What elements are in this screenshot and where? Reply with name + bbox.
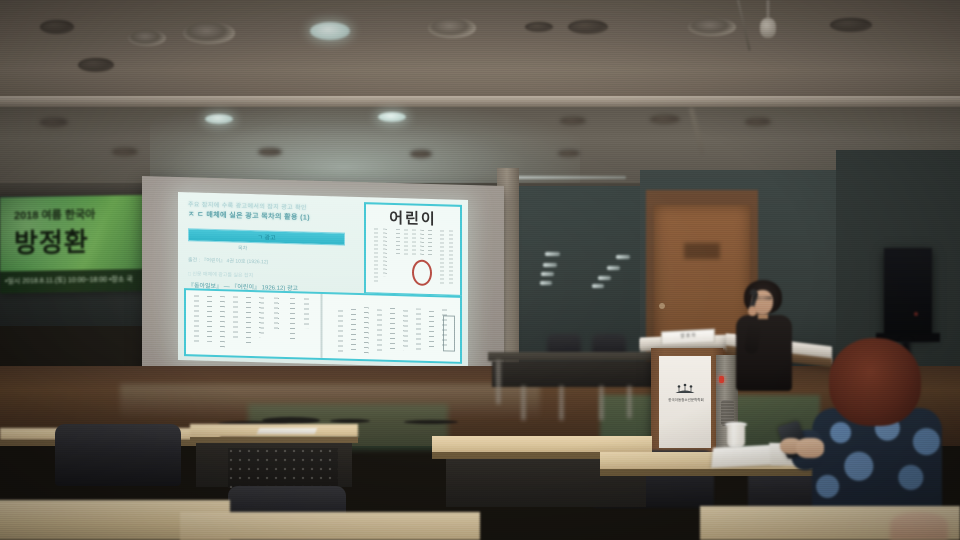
desk-top: [180, 512, 480, 540]
door-handle-icon[interactable]: [659, 303, 665, 309]
chair[interactable]: [55, 424, 181, 486]
cover-text-column: [374, 228, 378, 284]
table-leg: [600, 386, 603, 420]
spread-text-column: [304, 298, 309, 328]
cover-text-column: [449, 231, 453, 285]
downlight-icon: [558, 150, 580, 157]
power-led-icon: [719, 376, 724, 383]
downlight-icon: [40, 118, 68, 127]
cover-text-column: [412, 229, 416, 255]
paper-sheet: [257, 428, 317, 434]
desk-top: [432, 436, 652, 452]
spread-text-column: [338, 310, 343, 352]
floor-cable: [330, 419, 370, 423]
spread-text-column: [290, 298, 295, 342]
spread-boxed-note: [443, 315, 455, 351]
downlight-icon: [428, 18, 476, 38]
slide-subtext-3: □ 신문 매체에 광고를 실은 잡지: [188, 270, 253, 279]
ceiling-upper-panel: [0, 0, 960, 100]
table-leg: [628, 386, 631, 418]
spread-text-column: [207, 296, 212, 342]
cover-text-column: [404, 229, 408, 255]
organization-emblem-icon: [672, 382, 698, 396]
podium-nameplate-text: 발 표 자: [662, 332, 714, 341]
wall-light-reflection: [543, 263, 557, 267]
downlight-icon: [112, 148, 138, 156]
downlight-icon: [560, 117, 586, 125]
paper-cup: [727, 424, 745, 448]
wall-light-reflection: [616, 255, 630, 259]
cover-text-column: [383, 229, 387, 277]
document-spread-panel: [184, 288, 462, 364]
projected-slide: 주요 잡지에 수록 광고에서의 잡지 광고 확인 ㅈ ㄷ 매체에 실은 광고 목…: [178, 192, 468, 368]
cover-text-column: [396, 229, 400, 255]
podium-nameplate: 발 표 자: [661, 329, 715, 346]
wall-light-reflection: [545, 252, 560, 256]
magazine-cover-panel: 어린이: [364, 202, 462, 297]
wall-light-reflection: [540, 281, 552, 285]
banner-title: 방정환: [14, 222, 89, 260]
spread-text-column: [194, 295, 199, 345]
door-sign: [684, 243, 720, 259]
spread-text-column: [390, 308, 395, 352]
downlight-lit-icon: [310, 22, 350, 40]
spread-gutter: [320, 294, 323, 358]
spread-text-column: [403, 310, 408, 350]
slide-band-label: ㄱ 광고: [189, 230, 344, 243]
table-leg: [497, 360, 500, 404]
audience-member-hand: [796, 438, 824, 458]
presenter-torso: [736, 315, 792, 391]
pa-speaker: [884, 248, 932, 336]
wall-light-reflection: [592, 284, 604, 288]
spread-text-column: [429, 311, 434, 349]
downlight-icon: [745, 118, 771, 126]
downlight-icon: [830, 18, 872, 32]
slide-subtext-1: 목차: [238, 245, 247, 252]
spread-text-column: [364, 307, 369, 353]
downlight-icon: [183, 22, 235, 44]
slide-highlight-band: ㄱ 광고: [188, 228, 345, 245]
desk-modesty-panel: [228, 448, 338, 488]
downlight-icon: [525, 22, 553, 32]
cover-red-circle-mark: [412, 259, 432, 286]
downlight-icon: [568, 20, 608, 34]
microphone-icon: [750, 289, 757, 296]
floor-cable: [262, 417, 320, 424]
hand-foreground: [890, 512, 948, 540]
downlight-lit-icon: [205, 114, 233, 124]
spread-text-column: [259, 297, 264, 337]
downlight-icon: [78, 58, 114, 72]
lecture-hall-photo: 2018 여름 한국아 방정환 •일시 2018.8.11.(토) 10:00~…: [0, 0, 960, 540]
spread-text-column: [416, 309, 421, 351]
presenter-hand: [748, 306, 757, 316]
downlight-lit-icon: [378, 112, 406, 122]
banner-subtitle: 2018 여름 한국아: [14, 206, 95, 223]
floor-cable: [404, 420, 458, 424]
wall-light-reflection: [541, 272, 554, 276]
cover-text-column: [428, 230, 432, 256]
spread-text-column: [351, 309, 356, 353]
head-table-top: [488, 352, 668, 361]
slide-title-line-2: ㅈ ㄷ 매체에 실은 광고 목차의 활용 (1): [188, 209, 310, 222]
spread-text-column: [274, 298, 279, 332]
head-table: [492, 361, 664, 387]
wall-light-reflection: [607, 266, 620, 270]
audience-member-hair: [829, 338, 921, 426]
downlight-icon: [128, 30, 166, 46]
downlight-icon: [688, 18, 736, 36]
table-leg: [560, 386, 563, 420]
banner-datetime-venue: •일시 2018.8.11.(토) 10:00~18:00 •장소 국: [5, 274, 133, 286]
downlight-icon: [40, 20, 74, 34]
magazine-masthead: 어린이: [366, 206, 460, 230]
sprinkler-head-icon: [760, 18, 776, 38]
spread-text-column: [233, 296, 238, 340]
wall-top-light-strip: [516, 176, 626, 179]
downlight-icon: [410, 150, 432, 158]
spread-text-column: [220, 296, 225, 348]
speaker-led-icon: [914, 312, 918, 316]
wall-light-reflection: [598, 276, 611, 280]
table-leg: [522, 386, 525, 420]
spread-text-column: [246, 297, 251, 347]
emblem-caption: 한국아동청소년문학학회: [664, 398, 708, 403]
cover-text-column: [420, 230, 424, 256]
downlight-icon: [650, 115, 680, 124]
spread-text-column: [377, 310, 382, 352]
downlight-icon: [258, 148, 282, 156]
slide-subtext-2: 출전 : 『어린이』 4권 10호 (1926.12): [188, 256, 268, 265]
cover-text-column: [440, 230, 444, 284]
